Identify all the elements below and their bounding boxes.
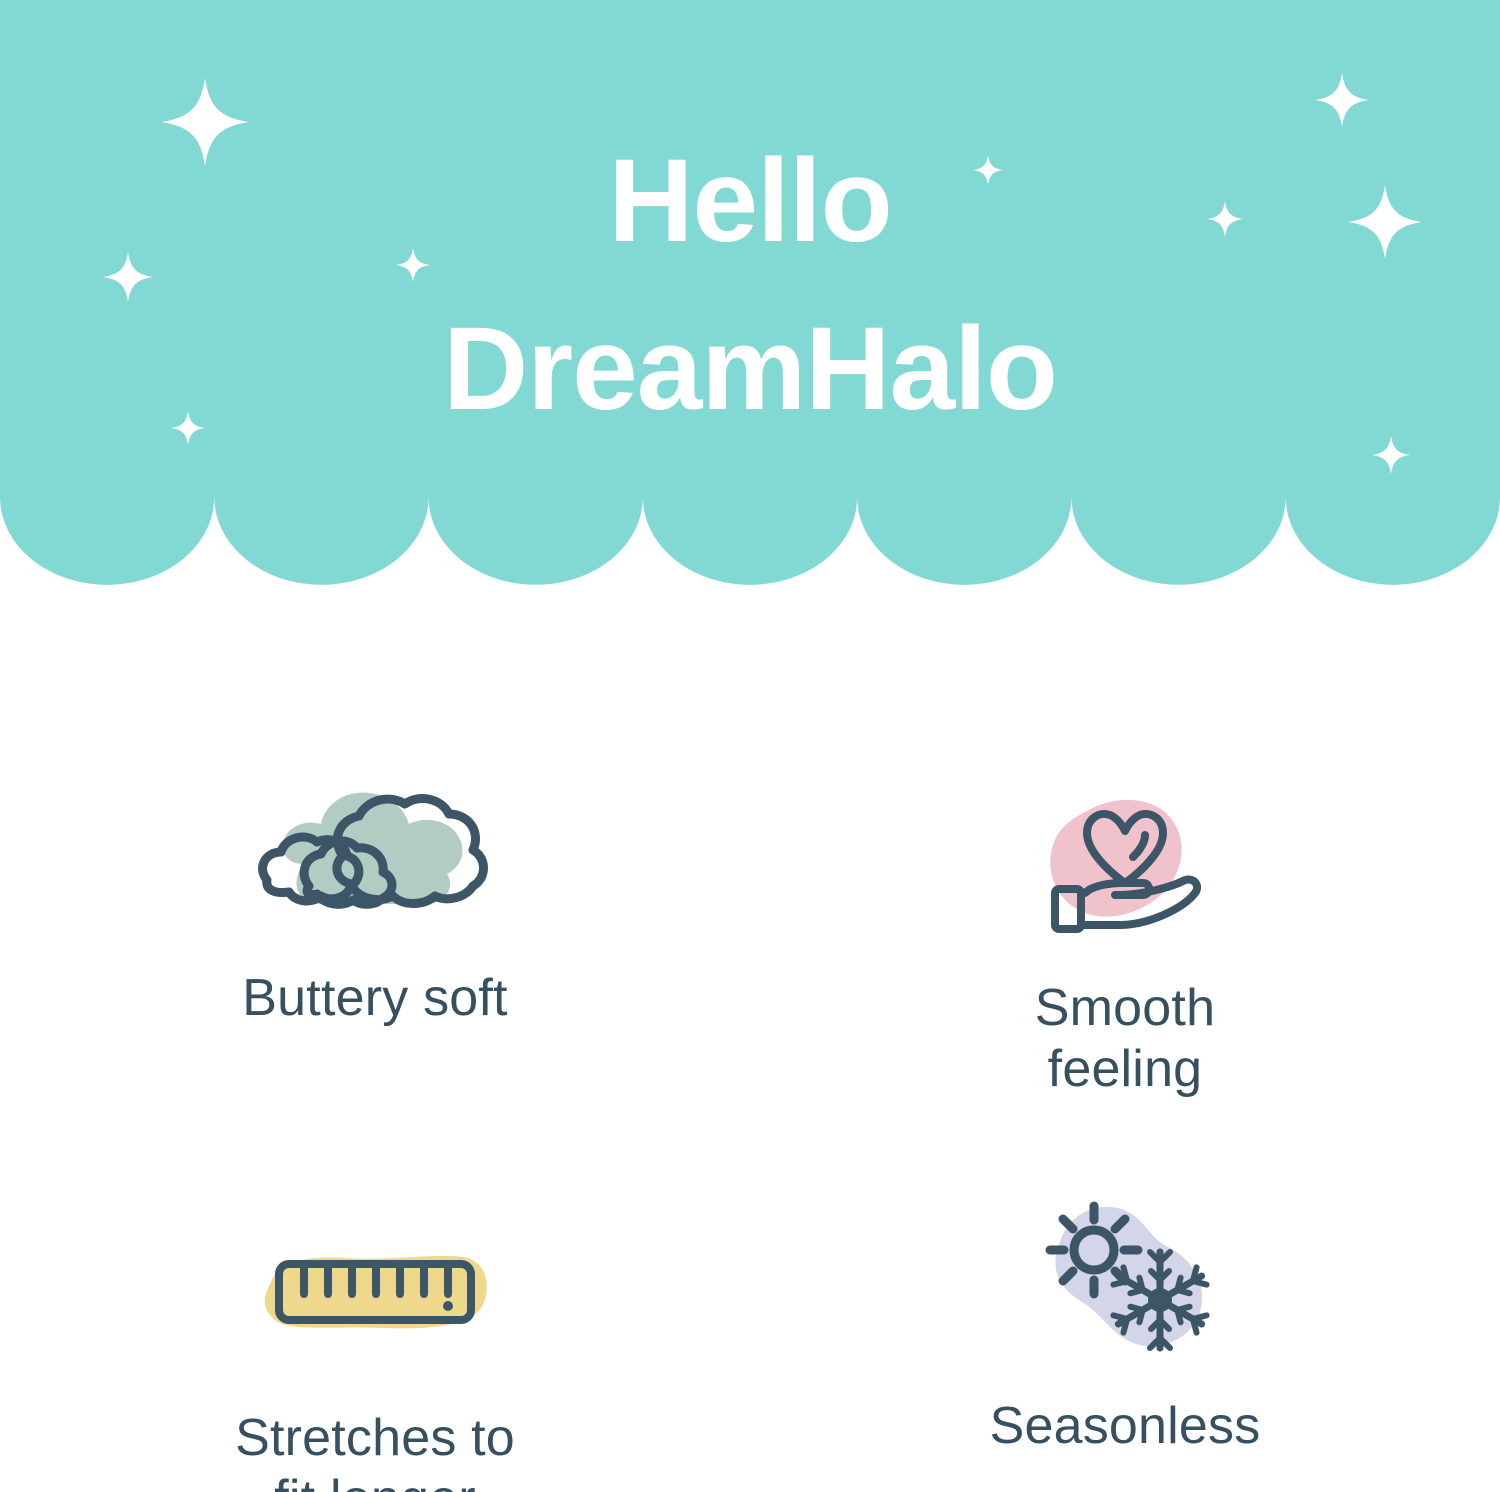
feature-card-seasonless: Seasonless (750, 1020, 1500, 1466)
sun-snowflake-icon (965, 1180, 1285, 1370)
ruler-icon (215, 1200, 535, 1390)
feature-card-buttery-soft: Buttery soft (0, 600, 750, 1046)
cloud-icon (215, 760, 535, 950)
feature-label: Seasonless (990, 1396, 1261, 1457)
hero-background-shape (0, 0, 1500, 600)
feature-card-smooth-feeling: Smooth feeling (750, 600, 1500, 1046)
feature-card-stretches-to-fit-longer: Stretches to fit longer (0, 1020, 750, 1466)
hero-banner: Hello DreamHalo (0, 0, 1500, 600)
promo-graphic: Hello DreamHalo (0, 0, 1500, 1492)
feature-grid: Buttery soft (0, 600, 1500, 1492)
feature-label: Stretches to fit longer (235, 1408, 515, 1492)
hand-holding-heart-icon (965, 770, 1285, 960)
